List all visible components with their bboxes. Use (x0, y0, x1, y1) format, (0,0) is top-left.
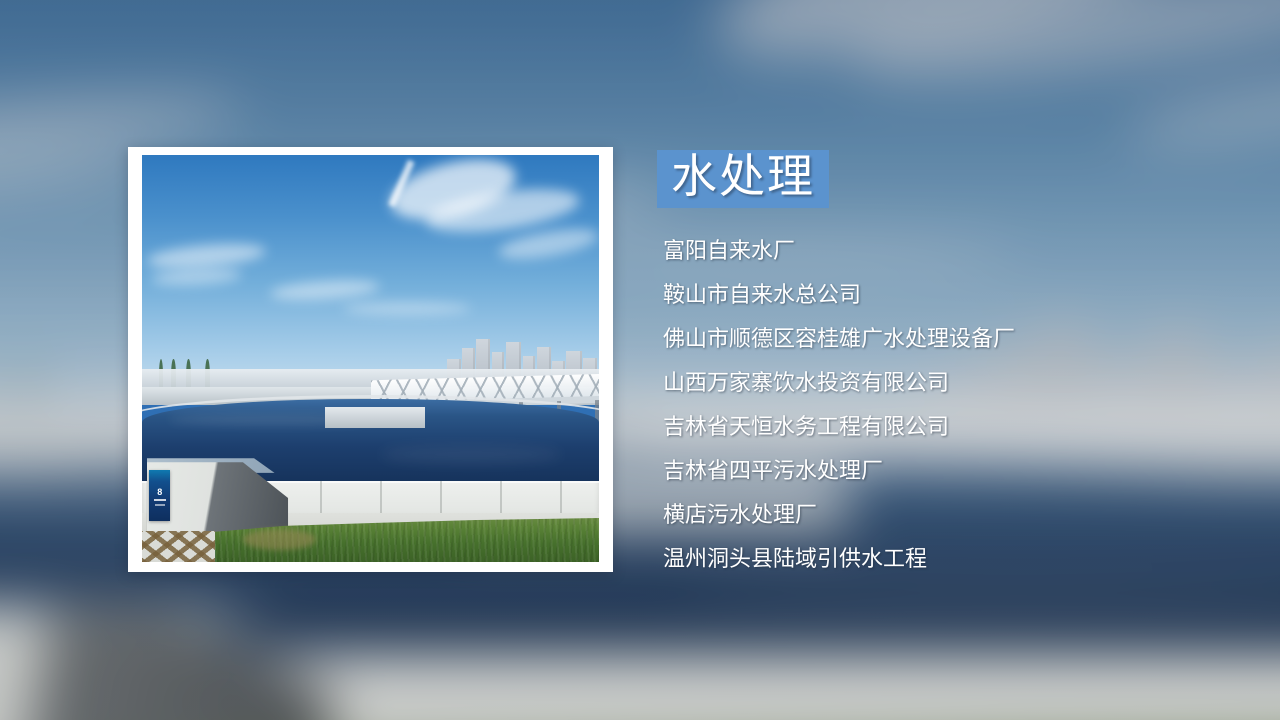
photo-scene: 8 (142, 155, 599, 562)
photo-frame[interactable]: 8 (128, 147, 613, 572)
list-item: 富阳自来水厂 (663, 240, 1247, 262)
list-item: 横店污水处理厂 (663, 504, 1247, 526)
list-item: 山西万家寨饮水投资有限公司 (663, 372, 1247, 394)
photo-image: 8 (142, 155, 599, 562)
list-item: 佛山市顺德区容桂雄广水处理设备厂 (663, 328, 1247, 350)
page-title-badge: 水处理 (657, 150, 829, 208)
grass-dry-patch (243, 529, 316, 549)
grass-paver-grid (142, 531, 215, 562)
slide-canvas: 8 水处理 富阳自来水厂 鞍山市自来水总公司 佛山市顺德区容桂雄广水处理设备厂 … (0, 0, 1280, 720)
list-item: 温州洞头县陆域引供水工程 (663, 548, 1247, 570)
blue-number-sign: 8 (149, 470, 170, 521)
list-item: 吉林省天恒水务工程有限公司 (663, 416, 1247, 438)
list-item: 鞍山市自来水总公司 (663, 284, 1247, 306)
organization-list: 富阳自来水厂 鞍山市自来水总公司 佛山市顺德区容桂雄广水处理设备厂 山西万家寨饮… (663, 240, 1247, 570)
content-column: 水处理 富阳自来水厂 鞍山市自来水总公司 佛山市顺德区容桂雄广水处理设备厂 山西… (657, 150, 1247, 592)
page-title: 水处理 (671, 151, 815, 202)
basin-platform (325, 407, 426, 427)
list-item: 吉林省四平污水处理厂 (663, 460, 1247, 482)
sign-number-label: 8 (149, 488, 170, 497)
